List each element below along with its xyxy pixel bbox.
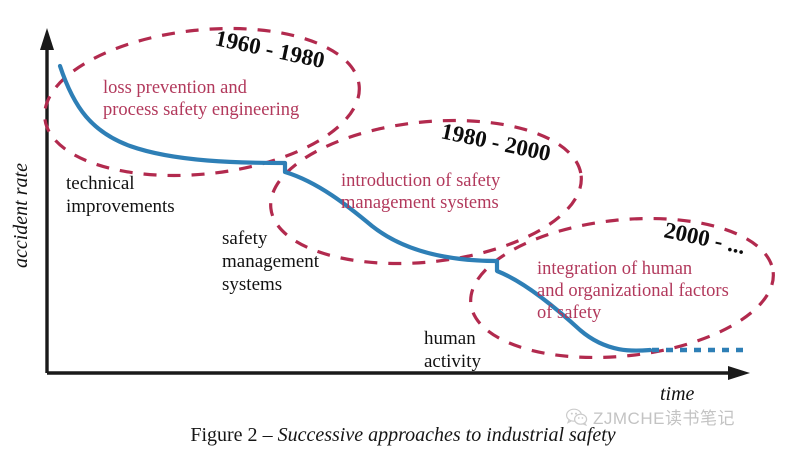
y-axis-arrowhead [40,28,54,50]
era-2-driver-line-2: management [222,251,320,272]
era-2-year-label: 1980 - 2000 [439,118,553,166]
era-3-description-line-2: and organizational factors [537,281,729,301]
caption-dash: – [258,424,278,446]
era-3-driver-line-2: activity [424,351,481,372]
era-3-description-line-3: of safety [537,303,602,323]
wechat-icon [566,408,588,426]
caption-title: Successive approaches to industrial safe… [278,424,616,446]
era-3-description-line-1: integration of human [537,259,692,279]
figure-container: accident rate time 1960 - 1980 loss prev… [0,0,806,474]
x-axis-label: time [660,383,695,405]
era-1-description-line-1: loss prevention and [103,78,248,98]
era-2-driver-line-3: systems [222,274,282,295]
era-1-description-line-2: process safety engineering [103,100,299,120]
y-axis-label: accident rate [10,163,32,268]
figure-caption: Figure 2 – Successive approaches to indu… [0,424,806,447]
era-2-description-line-1: introduction of safety [341,171,501,191]
era-3-driver-line-1: human [424,328,476,349]
era-1-driver-line-1: technical [66,173,135,194]
era-1-driver-line-2: improvements [66,196,175,217]
diagram-canvas: accident rate time 1960 - 1980 loss prev… [0,0,806,474]
era-2-description-line-2: management systems [341,193,499,213]
era-2-driver-line-1: safety [222,228,268,249]
caption-figure-number: Figure 2 [190,424,257,446]
x-axis-arrowhead [728,366,750,380]
